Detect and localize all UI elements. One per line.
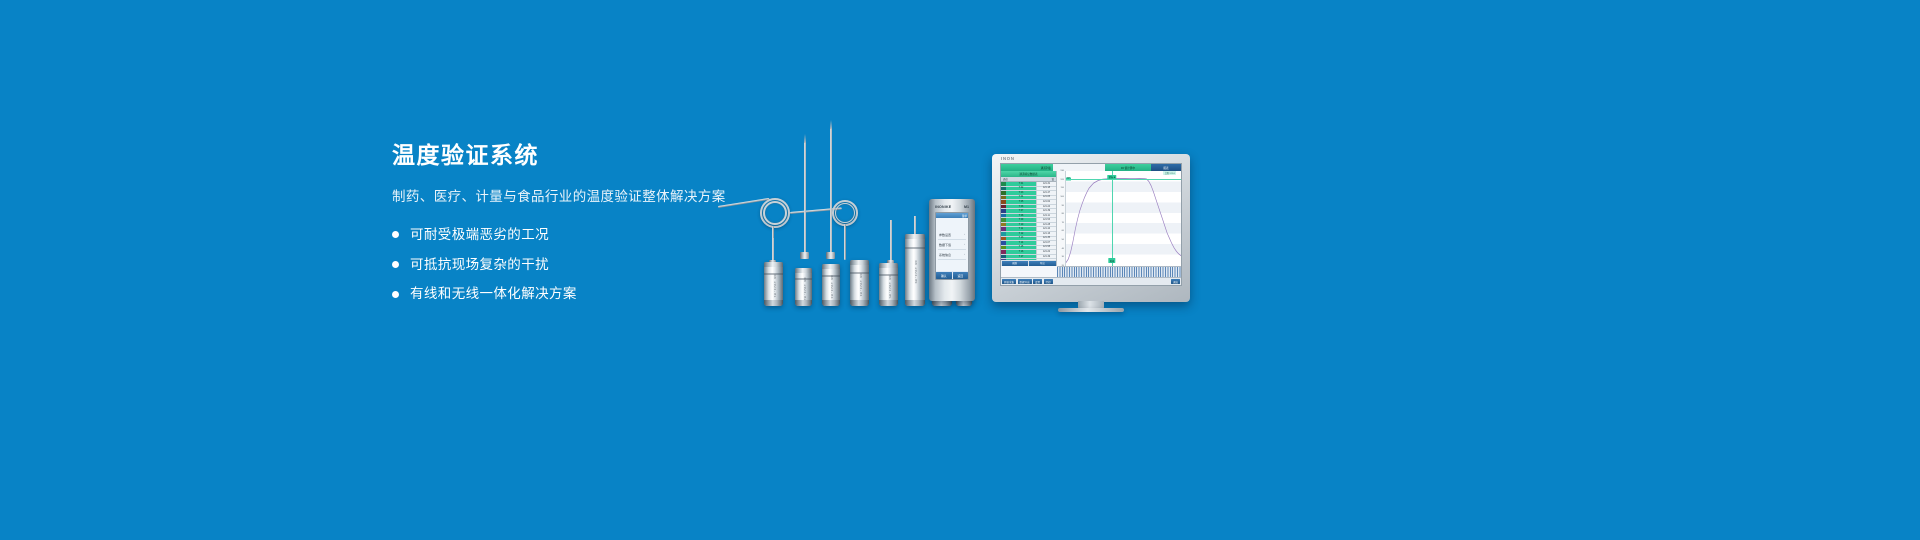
report-button[interactable]: 报表 [1151, 164, 1181, 171]
logger-label: SN 2024-03 [829, 275, 833, 298]
y-axis-tick-label: 90 [1062, 205, 1064, 207]
channel-name-cell: T 10 [1006, 223, 1036, 227]
channel-name-cell: T 17 [1006, 255, 1036, 259]
channel-value-cell: 121.49 [1036, 255, 1056, 259]
data-logger: SN 2024-04 [850, 260, 869, 306]
probe-needle [830, 128, 832, 254]
channel-value-cell: 121.35 [1036, 237, 1056, 241]
probe-coil-inner [763, 201, 787, 225]
topbar-left-section: 通道列表 [1001, 164, 1053, 171]
data-logger: SN 2024-06 [905, 234, 925, 306]
chevron-right-icon: › [964, 233, 965, 236]
validation-software-screen[interactable]: 通道列表 F0 值计算中 报表 [1000, 163, 1182, 286]
chart-plot-area[interactable]: 游标 A 时间 上限 121.0 SP [1066, 171, 1181, 266]
channel-value-cell: 121.22 [1036, 250, 1056, 254]
product-image-group: SN 2024-01 SN 2024-02 SN 2024-03 SN 2024… [700, 120, 1230, 320]
y-axis-tick-label: 50 [1062, 239, 1064, 241]
list-item[interactable]: 参数设置 › [938, 230, 966, 240]
monitor-stand-foot [1058, 308, 1124, 312]
exit-button[interactable]: 退出 [1171, 279, 1180, 284]
handheld-button-row: 确认 返回 [936, 272, 968, 279]
logger-cap [795, 268, 812, 273]
channel-value-cell: 121.53 [1036, 218, 1056, 222]
y-axis-tick-label: 80 [1062, 213, 1064, 215]
probe-needle-tip [804, 134, 806, 143]
probe-collar [826, 252, 835, 259]
feature-label: 有线和无线一体化解决方案 [410, 285, 577, 303]
list-item[interactable]: 系统信息 › [938, 250, 966, 260]
handheld-screen[interactable]: 菜单 参数设置 › 数据下载 › 系统信息 › [935, 212, 969, 280]
topbar-left-label: 通道列表 [1041, 166, 1051, 170]
channel-value-cell: 121.62 [1036, 200, 1056, 204]
channel-value-cell: 121.05 [1036, 196, 1056, 200]
chart-limit-line [1066, 179, 1181, 180]
bullet-dot-icon [392, 261, 399, 268]
y-axis-tick-label: 60 [1062, 230, 1064, 232]
handheld-brand-label: INONIKE [935, 205, 951, 209]
app-toolbar: 开始采集 数据导出 设置 打印 退出 [1001, 277, 1181, 285]
channel-value-cell: 121.31 [1036, 182, 1056, 186]
temperature-curve-svg [1066, 171, 1181, 266]
export-button[interactable]: 导出 [1029, 261, 1056, 266]
logger-label: SN 2024-05 [887, 275, 891, 298]
data-logger: SN 2024-01 [764, 262, 783, 306]
chart-cursor-bottom-label: 时间 [1108, 258, 1115, 263]
app-body: 通道验证数据表 通道 值 T 01121.31T 02121.18T 03121… [1001, 171, 1181, 266]
data-logger: SN 2024-02 [795, 268, 812, 306]
logger-label: SN 2024-02 [802, 277, 806, 300]
monitor-bezel: INON 通道列表 F0 值计算中 报表 [992, 154, 1190, 302]
channel-name-cell: T 11 [1006, 227, 1036, 231]
logger-base [795, 300, 812, 306]
channel-footer-buttons: 刷新 导出 [1001, 260, 1056, 266]
channel-value-cell: 121.16 [1036, 232, 1056, 236]
menu-label: 参数设置 [939, 233, 951, 237]
channel-name-cell: T 03 [1006, 191, 1036, 195]
logger-label: SN 2024-04 [858, 273, 862, 296]
channel-value-cell: 121.07 [1036, 241, 1056, 245]
channel-value-cell: 121.11 [1036, 214, 1056, 218]
chevron-right-icon: › [964, 253, 965, 256]
channel-value-cell: 121.18 [1036, 187, 1056, 191]
list-item[interactable]: 数据下载 › [938, 240, 966, 250]
f0-status-badge: F0 值计算中 [1105, 164, 1151, 171]
y-axis-tick-label: 130 [1060, 170, 1064, 172]
chart-panel[interactable]: 1301201101009080706050403020 游标 A 时间 上限 … [1057, 171, 1181, 266]
chart-limit-label: 上限 121.0 [1163, 171, 1176, 175]
y-axis-tick-label: 70 [1062, 222, 1064, 224]
report-button-label: 报表 [1163, 166, 1168, 170]
y-axis-tick-label: 110 [1061, 187, 1065, 189]
handheld-model-label: M1 [964, 205, 969, 209]
logger-cap [764, 262, 783, 267]
channel-name-cell: T 16 [1006, 250, 1036, 254]
channel-name-cell: T 05 [1006, 200, 1036, 204]
logger-base [850, 300, 869, 306]
channel-value-cell: 121.47 [1036, 191, 1056, 195]
logger-base [905, 300, 925, 306]
handheld-confirm-button[interactable]: 确认 [936, 272, 952, 279]
channel-name-cell: T 12 [1006, 232, 1036, 236]
monitor-brand-label: INON [1001, 156, 1015, 161]
logger-cap [850, 260, 869, 265]
feature-label: 可抵抗现场复杂的干扰 [410, 256, 549, 274]
probe-stem [890, 220, 892, 264]
feature-label: 可耐受极端恶劣的工况 [410, 226, 549, 244]
probe-needle [804, 142, 806, 254]
handheld-brand-bar: INONIKE M1 [933, 203, 971, 211]
menu-label: 数据下载 [939, 243, 951, 247]
y-axis-tick-label: 20 [1062, 265, 1064, 267]
y-axis-tick-label: 30 [1062, 256, 1064, 258]
data-logger: SN 2024-05 [879, 263, 898, 306]
chart-x-axis-strip [1057, 266, 1181, 277]
probe-needle-tip [830, 120, 832, 129]
column-header-channel: 通道 [1003, 177, 1008, 181]
chart-cursor-line[interactable] [1112, 171, 1113, 266]
column-header-value: 值 [1052, 177, 1054, 181]
channel-value-cell: 121.39 [1036, 209, 1056, 213]
toolbar-spacer [1054, 279, 1169, 284]
start-acquisition-button[interactable]: 开始采集 [1002, 279, 1016, 284]
probe-coil-inner [835, 203, 855, 223]
f0-status-label: F0 值计算中 [1121, 166, 1135, 170]
logger-ring [905, 247, 925, 249]
channel-name-cell: T 09 [1006, 218, 1036, 222]
channel-name-cell: T 02 [1006, 187, 1036, 191]
app-topbar: 通道列表 F0 值计算中 报表 [1001, 164, 1181, 171]
data-logger: SN 2024-03 [822, 264, 840, 306]
handheld-menu-list[interactable]: 参数设置 › 数据下载 › 系统信息 › [936, 218, 968, 271]
settings-button[interactable]: 设置 [1033, 279, 1042, 284]
print-button[interactable]: 打印 [1044, 279, 1053, 284]
logger-cap [879, 263, 898, 268]
channel-value-cell: 121.44 [1036, 227, 1056, 231]
logger-base [764, 300, 783, 306]
channel-table-panel[interactable]: 通道验证数据表 通道 值 T 01121.31T 02121.18T 03121… [1001, 171, 1057, 266]
logger-label: SN 2024-06 [913, 260, 917, 283]
logger-base [822, 300, 840, 306]
channel-name-cell: T 06 [1006, 205, 1036, 209]
probe-cable-drop [844, 224, 846, 260]
channel-name-cell: T 07 [1006, 209, 1036, 213]
data-export-button[interactable]: 数据导出 [1018, 279, 1032, 284]
logger-base [879, 300, 898, 306]
probe-collar [800, 252, 809, 259]
channel-value-cell: 121.58 [1036, 246, 1056, 250]
channel-name-cell: T 14 [1006, 241, 1036, 245]
channel-name-cell: T 04 [1006, 196, 1036, 200]
hero-banner: 温度验证系统 制药、医疗、计量与食品行业的温度验证整体解决方案 可耐受极端恶劣的… [0, 0, 1920, 540]
chart-y-axis: 1301201101009080706050403020 [1057, 171, 1066, 266]
handheld-back-button[interactable]: 返回 [953, 272, 969, 279]
y-axis-tick-label: 100 [1060, 196, 1064, 198]
y-axis-tick-label: 120 [1060, 179, 1064, 181]
channel-value-cell: 121.28 [1036, 223, 1056, 227]
handheld-reader[interactable]: INONIKE M1 菜单 参数设置 › 数据下载 › [929, 199, 975, 301]
channel-name-cell: T 13 [1006, 237, 1036, 241]
logger-cap [905, 234, 925, 239]
channel-rows[interactable]: T 01121.31T 02121.18T 03121.47T 04121.05… [1001, 182, 1056, 260]
bullet-dot-icon [392, 291, 399, 298]
logger-label: SN 2024-01 [772, 274, 776, 297]
bullet-dot-icon [392, 231, 399, 238]
monitor-display: INON 通道列表 F0 值计算中 报表 [992, 154, 1190, 302]
channel-name-cell: T 08 [1006, 214, 1036, 218]
channel-value-cell: 121.24 [1036, 205, 1056, 209]
y-axis-tick-label: 40 [1062, 248, 1064, 250]
handheld-titlebar-label: 菜单 [962, 214, 967, 218]
menu-label: 系统信息 [939, 253, 951, 257]
logger-cap [822, 264, 840, 269]
channel-name-cell: T 01 [1006, 182, 1036, 186]
channel-table-title: 通道验证数据表 [1019, 172, 1037, 176]
refresh-button[interactable]: 刷新 [1002, 261, 1029, 266]
chevron-right-icon: › [964, 243, 965, 246]
channel-name-cell: T 15 [1006, 246, 1036, 250]
